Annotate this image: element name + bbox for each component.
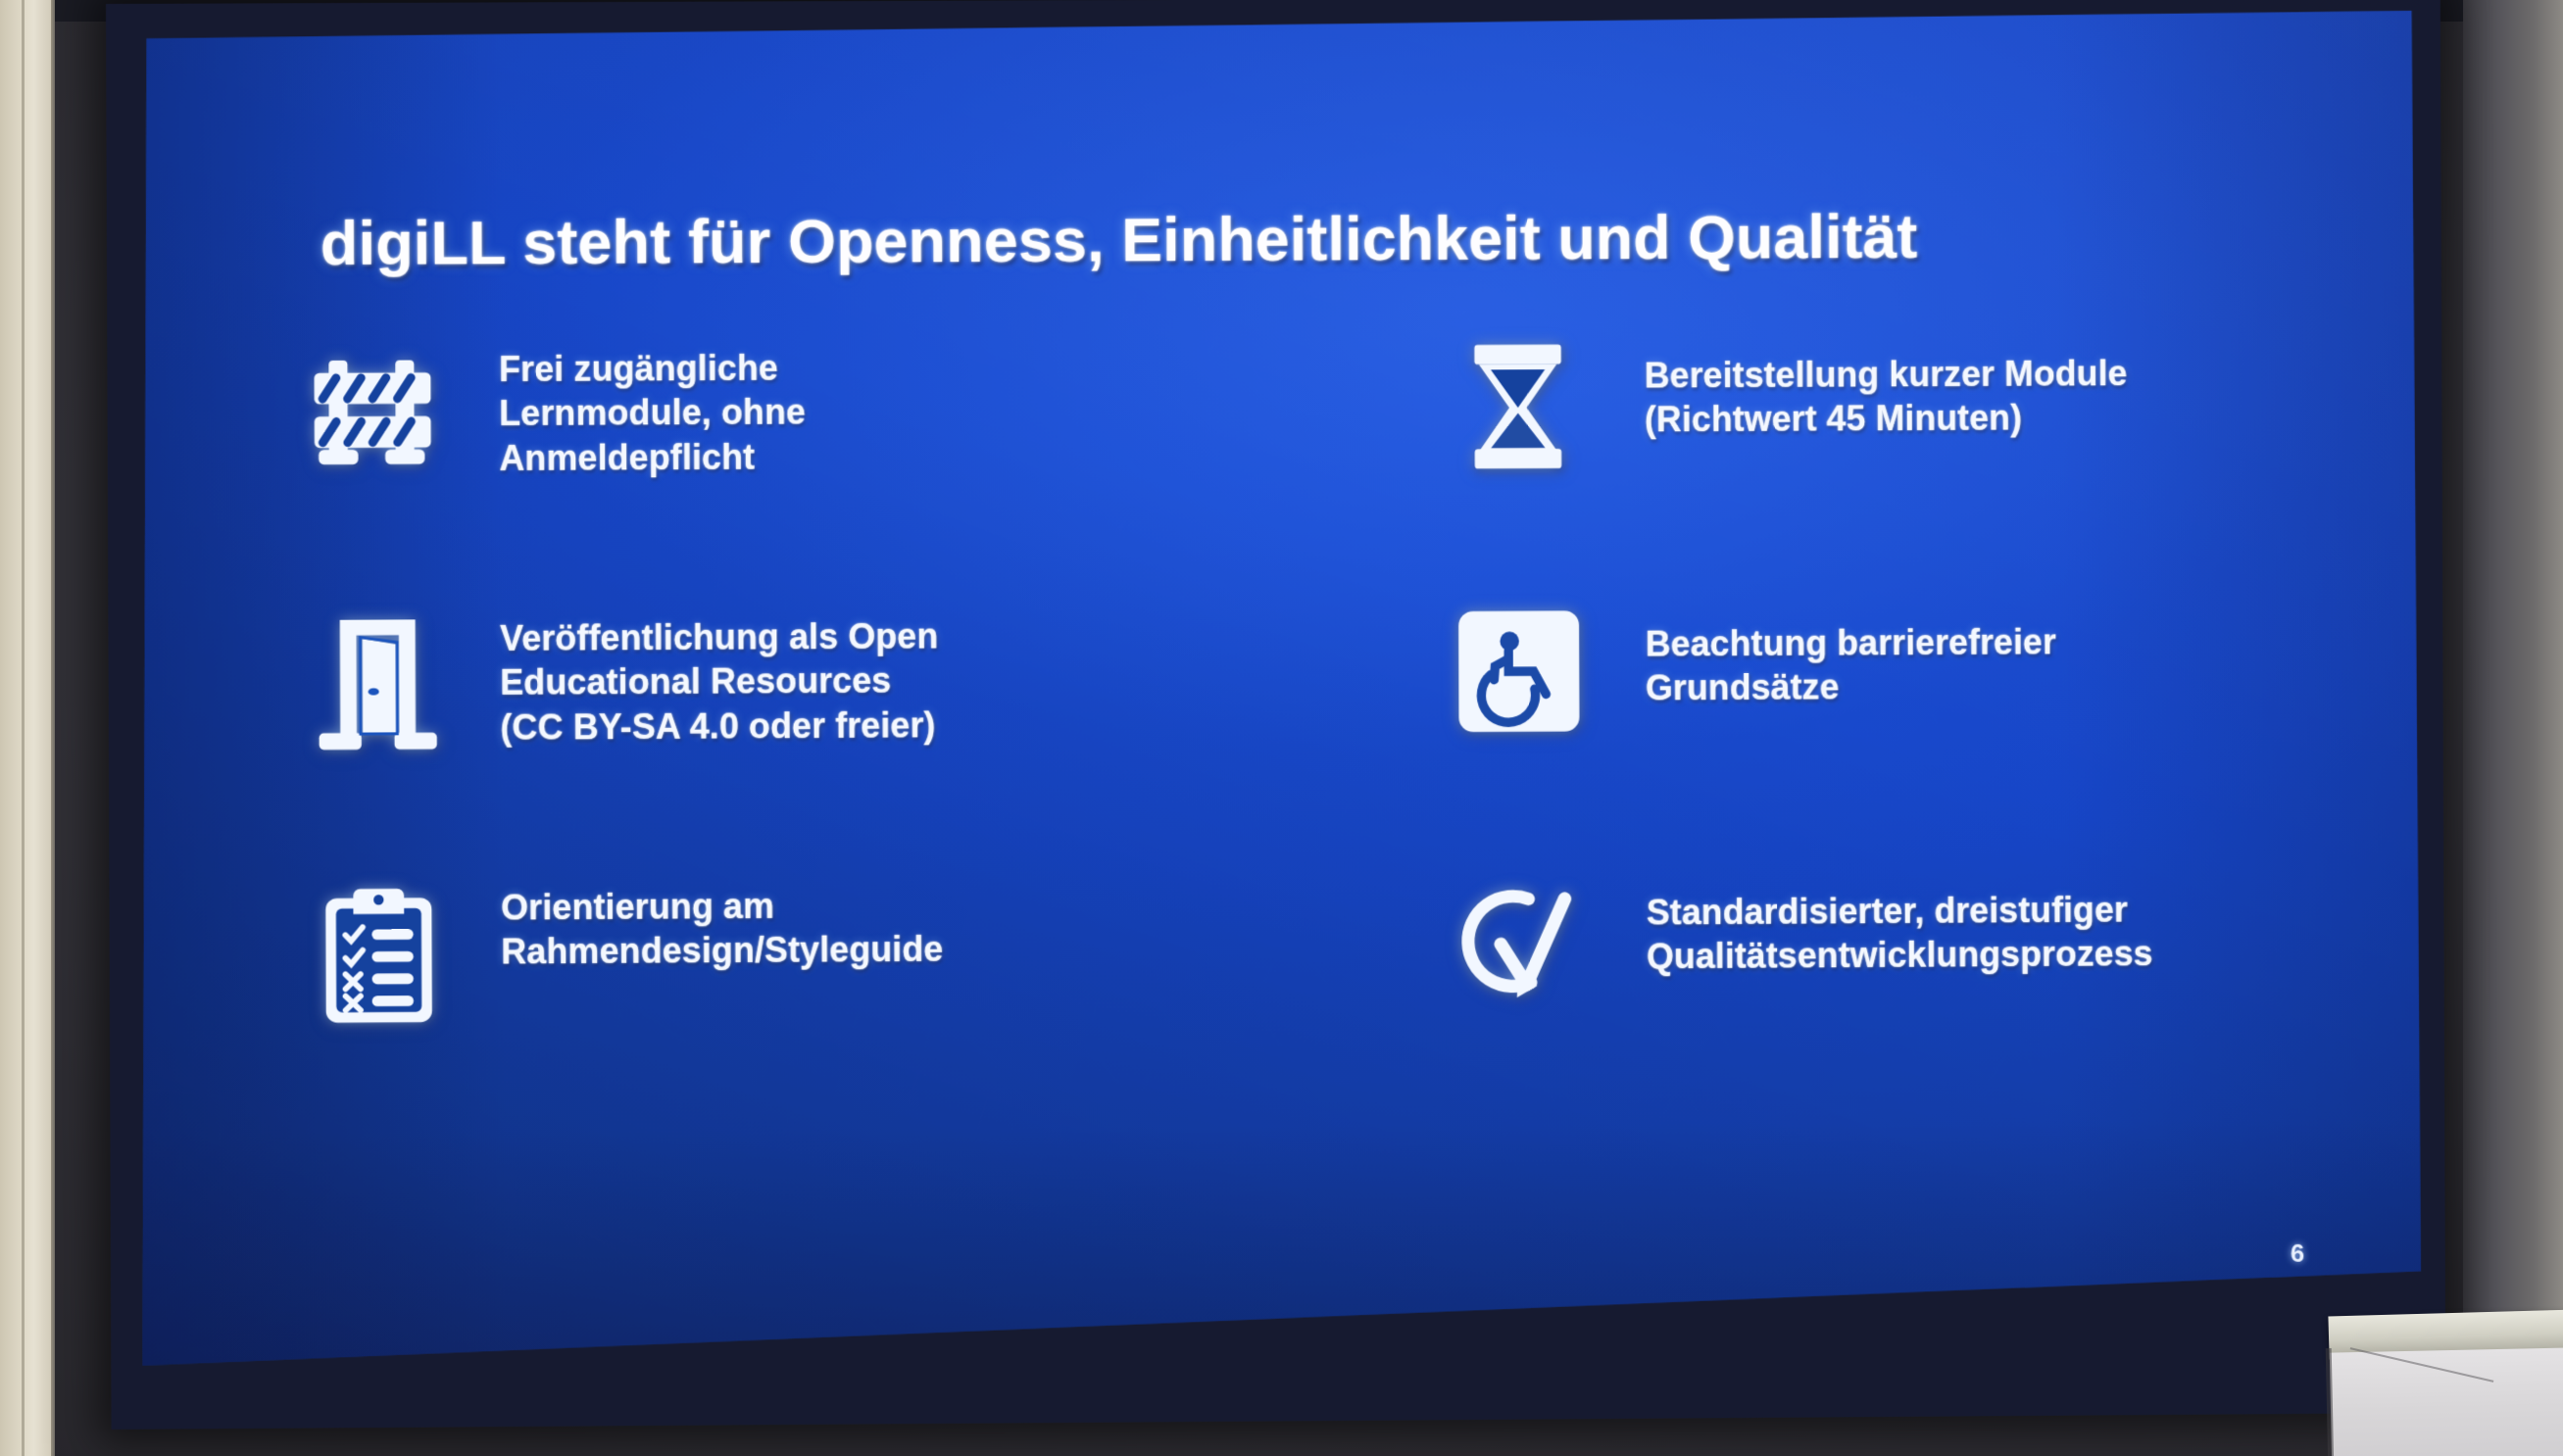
feature-item-accessibility: Beachtung barrierefreier Grundsätze (1263, 601, 2383, 875)
feature-label: Standardisierter, dreistufiger Qualitäts… (1647, 869, 2346, 980)
right-wall (2463, 0, 2563, 1456)
slide-number: 6 (2291, 1238, 2304, 1269)
flipchart-easel (2325, 1305, 2563, 1456)
flipchart-paper (2330, 1347, 2563, 1456)
left-wall-seam (22, 0, 25, 1456)
clipboard-checklist-icon (140, 880, 501, 1029)
presentation-slide: digiLL steht für Openness, Einheitlichke… (137, 11, 2421, 1377)
feature-label: Veröffentlichung als Open Educational Re… (500, 607, 1243, 750)
page-title: digiLL steht für Openness, Einheitlichke… (320, 202, 2270, 277)
barrier-icon (138, 341, 499, 480)
left-wall (0, 0, 55, 1456)
feature-item-quality-process: Standardisierter, dreistufiger Qualitäts… (1264, 868, 2384, 1124)
feature-item-styleguide: Orientierung am Rahmendesign/Styleguide (140, 875, 1265, 1132)
feature-item-open-access: Frei zugängliche Lernmodule, ohne Anmeld… (138, 338, 1263, 612)
feature-label: Orientierung am Rahmendesign/Styleguide (501, 875, 1244, 974)
feature-label: Beachtung barrierefreier Grundsätze (1646, 601, 2345, 710)
feature-grid: Frei zugängliche Lernmodule, ohne Anmeld… (138, 332, 2420, 1132)
feature-label: Bereitstellung kurzer Module (Richtwert … (1645, 332, 2344, 442)
feature-item-oer-license: Veröffentlichung als Open Educational Re… (139, 607, 1264, 882)
hourglass-icon (1262, 336, 1645, 476)
wheelchair-accessibility-icon (1263, 605, 1646, 736)
cycle-checkmark-icon (1264, 873, 1647, 1008)
feature-item-short-modules: Bereitstellung kurzer Module (Richtwert … (1262, 332, 2382, 607)
feature-label: Frei zugängliche Lernmodule, ohne Anmeld… (499, 338, 1242, 480)
room-photo-scene: digiLL steht für Openness, Einheitlichke… (0, 0, 2563, 1456)
projection-screen: digiLL steht für Openness, Einheitlichke… (106, 0, 2445, 1430)
open-door-icon (139, 610, 500, 753)
